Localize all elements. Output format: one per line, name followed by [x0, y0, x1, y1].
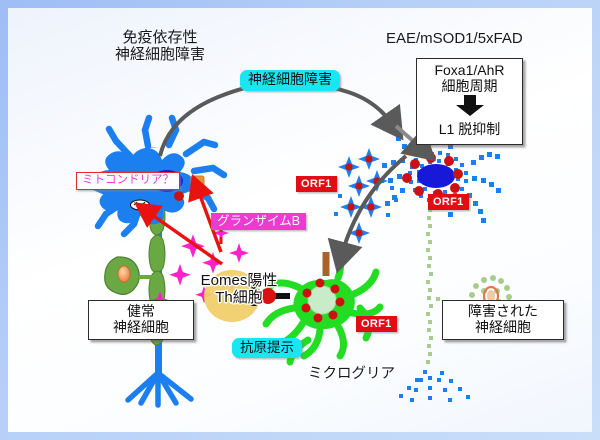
- neuronal-injury-arrow: [160, 82, 392, 156]
- page-title-left: 免疫依存性 神経細胞障害: [80, 30, 240, 64]
- label-th-cell: Eomes陽性 Th細胞: [184, 273, 294, 307]
- healthy-neuron-line2: 神経細胞: [96, 320, 186, 336]
- title-left-line2: 神経細胞障害: [80, 47, 240, 64]
- healthy-neuron-box: 健常 神経細胞: [88, 300, 194, 340]
- th-cell-line1: Eomes陽性: [184, 273, 294, 290]
- orf1-chip-microglia: ORF1: [356, 316, 397, 332]
- down-block-arrow-icon: [423, 95, 516, 121]
- pathway-line2: 細胞周期: [423, 79, 516, 95]
- orf1-chip-neuron: ORF1: [428, 194, 469, 210]
- figure-canvas: 免疫依存性 神経細胞障害 EAE/mSOD1/5xFAD 神経細胞障害 Foxa…: [8, 8, 592, 432]
- mitochondrion-shape: [131, 200, 150, 210]
- damaged-neuron-line2: 神経細胞: [450, 320, 556, 336]
- orf1-transfer-arrow: [342, 156, 406, 254]
- orf1-chip-free: ORF1: [296, 176, 337, 192]
- pathway-line3: L1 脱抑制: [423, 122, 516, 138]
- damaged-neuron-box: 障害された 神経細胞: [442, 300, 564, 340]
- healthy-neuron-line1: 健常: [96, 304, 186, 320]
- callout-mitochondria: ミトコンドリア？: [76, 172, 180, 190]
- damaged-neuron-graphic: [379, 123, 512, 402]
- damaged-neuron-nucleus: [417, 164, 455, 188]
- orf1-particle-cluster: [334, 148, 398, 244]
- page-title-right: EAE/mSOD1/5xFAD: [386, 31, 523, 48]
- oligodendrocyte-body: [105, 257, 140, 294]
- damaged-neuron-line1: 障害された: [450, 304, 556, 320]
- label-microglia: ミクログリア: [308, 366, 395, 382]
- orf1-granules: [402, 153, 463, 199]
- callout-granzyme-b: グランザイムB: [211, 213, 306, 230]
- healthy-neuron-graphic: [94, 118, 224, 405]
- title-left-line1: 免疫依存性: [80, 30, 240, 47]
- callout-neuronal-injury: 神経細胞障害: [240, 70, 340, 91]
- figure-frame: 免疫依存性 神経細胞障害 EAE/mSOD1/5xFAD 神経細胞障害 Foxa…: [0, 0, 600, 440]
- pathway-line1: Foxa1/AhR: [423, 63, 516, 79]
- microglia-body: [293, 279, 354, 329]
- callout-antigen-presentation: 抗原提示: [232, 338, 302, 358]
- th-cell-line2: Th細胞: [184, 290, 294, 307]
- pathway-box: Foxa1/AhR 細胞周期 L1 脱抑制: [416, 58, 523, 145]
